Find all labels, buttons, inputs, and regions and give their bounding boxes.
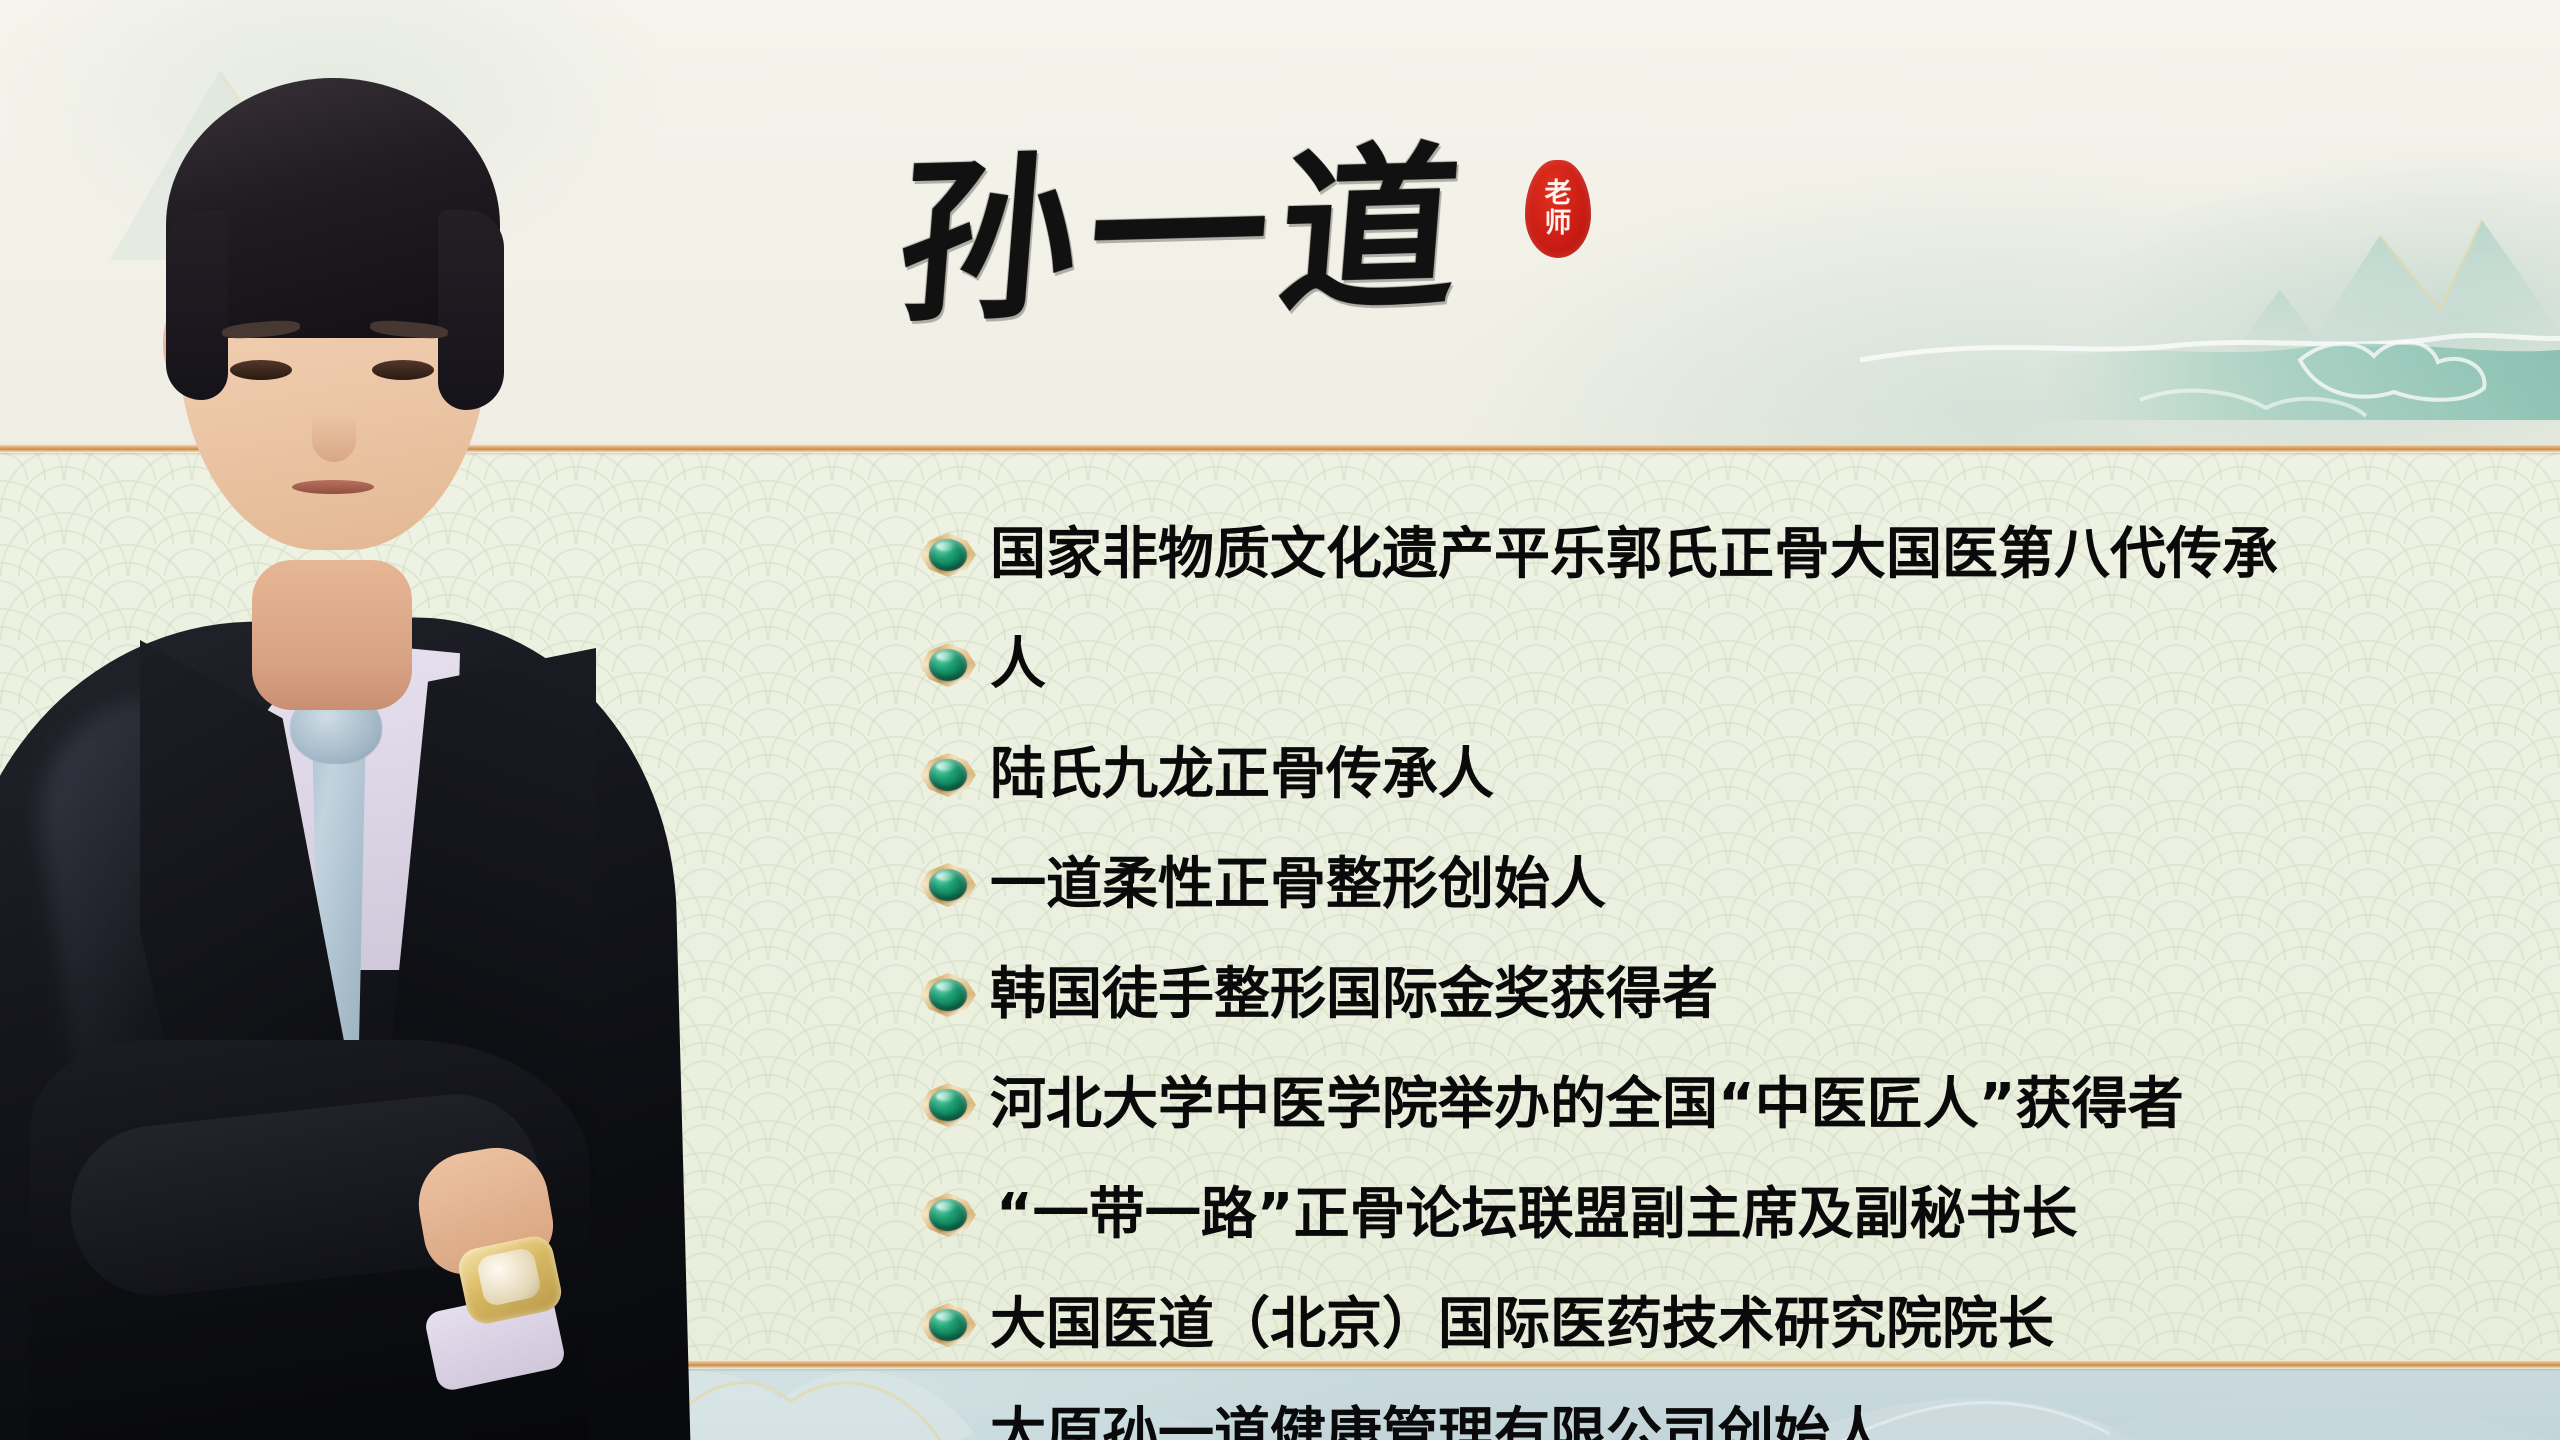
credential-text: 陆氏九龙正骨传承人 <box>990 744 1494 806</box>
slide-canvas: 孙一道 老 师 国家非物质文化遗产平乐郭氏正骨大国医第八代传承人陆氏九龙正骨传承… <box>0 0 2560 1440</box>
gem-glint <box>936 762 956 771</box>
credential-text: 国家非物质文化遗产平乐郭氏正骨大国医第八代传承 <box>990 524 2278 586</box>
credential-text: 韩国徒手整形国际金奖获得者 <box>990 964 1718 1026</box>
credential-row: 人 <box>920 610 2520 720</box>
green-jade-gem-icon <box>920 753 976 797</box>
seal-char-2: 师 <box>1545 210 1572 238</box>
green-jade-gem-icon <box>920 973 976 1017</box>
credential-row: 太原孙一道健康管理有限公司创始人 <box>920 1380 2520 1440</box>
gem-glint <box>936 652 956 661</box>
credential-row: 大国医道（北京）国际医药技术研究院院长 <box>920 1270 2520 1380</box>
green-jade-gem-icon <box>920 1083 976 1127</box>
credential-text: 大国医道（北京）国际医药技术研究院院长 <box>990 1294 2054 1356</box>
gem-glint <box>936 982 956 991</box>
credential-text: 人 <box>990 634 1046 696</box>
green-jade-gem-icon <box>920 643 976 687</box>
green-jade-gem-icon <box>920 533 976 577</box>
credential-text: 一道柔性正骨整形创始人 <box>990 854 1606 916</box>
gem-glint <box>936 1092 956 1101</box>
eye-left <box>230 360 292 380</box>
hair-side-right <box>438 210 504 410</box>
credential-row: “一带一路”正骨论坛联盟副主席及副秘书长 <box>920 1160 2520 1270</box>
neck <box>252 560 412 710</box>
mouth <box>292 480 374 494</box>
credential-row: 陆氏九龙正骨传承人 <box>920 720 2520 830</box>
hair-side-left <box>166 210 228 400</box>
credential-text: 太原孙一道健康管理有限公司创始人 <box>990 1404 1886 1440</box>
red-seal-stamp: 老 师 <box>1525 160 1591 258</box>
portrait-photo <box>0 0 620 1440</box>
green-jade-gem-icon <box>920 1193 976 1237</box>
credentials-list: 国家非物质文化遗产平乐郭氏正骨大国医第八代传承人陆氏九龙正骨传承人一道柔性正骨整… <box>920 500 2520 1440</box>
seal-char-1: 老 <box>1545 180 1572 208</box>
ink-mountain-cloud-decoration <box>1740 60 2560 480</box>
credential-row: 一道柔性正骨整形创始人 <box>920 830 2520 940</box>
gem-glint <box>936 1312 956 1321</box>
credential-text: “一带一路”正骨论坛联盟副主席及副秘书长 <box>990 1184 2078 1246</box>
nose <box>312 390 356 462</box>
credential-row: 河北大学中医学院举办的全国“中医匠人”获得者 <box>920 1050 2520 1160</box>
credential-row: 国家非物质文化遗产平乐郭氏正骨大国医第八代传承 <box>920 500 2520 610</box>
gem-glint <box>936 1202 956 1211</box>
eye-right <box>372 360 434 380</box>
green-jade-gem-icon <box>920 863 976 907</box>
credential-text: 河北大学中医学院举办的全国“中医匠人”获得者 <box>990 1074 2184 1136</box>
green-jade-gem-icon <box>920 1303 976 1347</box>
gem-glint <box>936 872 956 881</box>
credential-row: 韩国徒手整形国际金奖获得者 <box>920 940 2520 1050</box>
title-block: 孙一道 老 师 <box>900 128 1660 358</box>
gem-glint <box>936 542 956 551</box>
